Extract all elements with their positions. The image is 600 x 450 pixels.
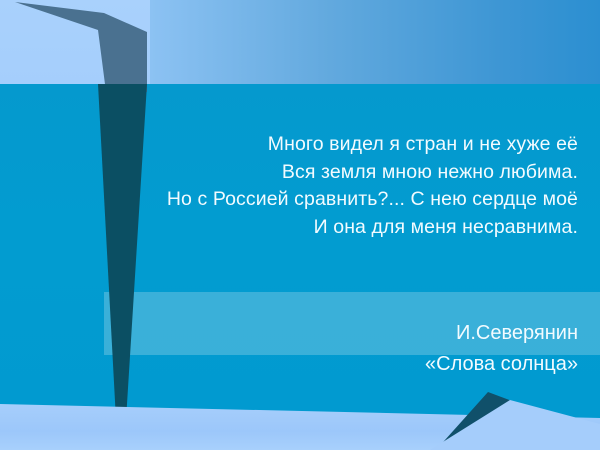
poem-text: Много видел я стран и не хуже её Вся зем…	[20, 131, 578, 241]
poem-line-3: Но с Россией сравнить?... С нею сердце м…	[20, 186, 578, 214]
poem-line-4: И она для меня несравнима.	[20, 214, 578, 242]
background-band-top	[150, 0, 600, 84]
attribution-text: И.Северянин «Слова солнца»	[120, 318, 578, 380]
slide-canvas: Много видел я стран и не хуже её Вся зем…	[0, 0, 600, 450]
background-band-bottom	[0, 404, 600, 450]
poem-line-2: Вся земля мною нежно любима.	[20, 159, 578, 187]
attribution-source: «Слова солнца»	[120, 349, 578, 380]
attribution-author: И.Северянин	[120, 318, 578, 349]
corner-triangle-dark-icon	[400, 370, 600, 450]
corner-triangle-light-icon	[410, 388, 600, 450]
poem-line-1: Много видел я стран и не хуже её	[20, 131, 578, 159]
